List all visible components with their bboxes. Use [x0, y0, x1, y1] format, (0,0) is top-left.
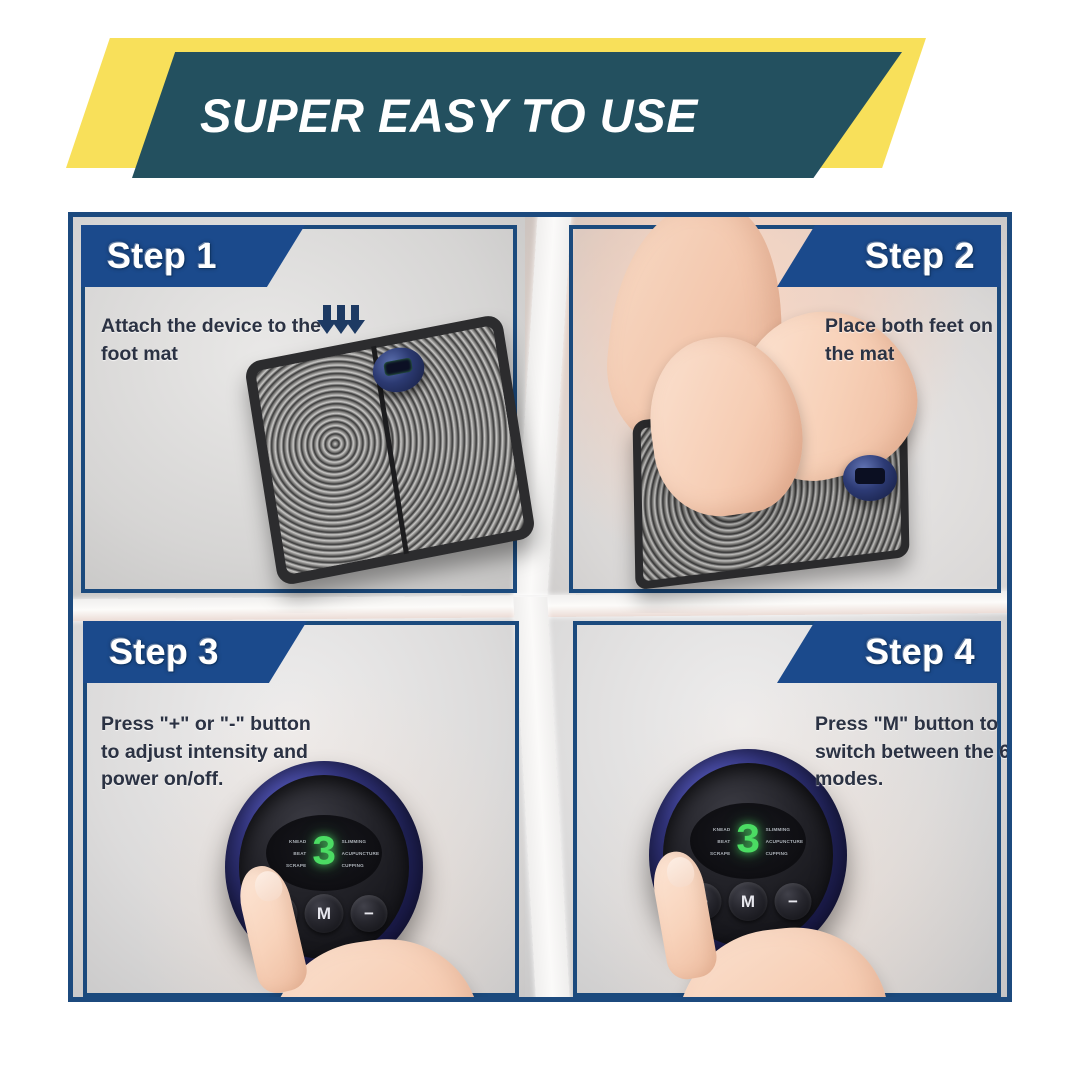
step-1-tab-label: Step 1 — [107, 235, 217, 277]
step-1-tab: Step 1 — [81, 225, 305, 287]
mode-label-acupuncture: ACUPUNCTURE — [766, 839, 804, 844]
mode-label-beat: BEAT — [293, 851, 306, 856]
mode-label-slimming: SLIMMING — [766, 827, 791, 832]
mode-label-slimming: SLIMMING — [342, 839, 367, 844]
mode-label-knead: KNEAD — [289, 839, 306, 844]
promo-graphic-root: SUPER EASY TO USE — [0, 0, 1080, 1080]
steps-grid: KNEAD BEAT SCRAPE 3 SLIMMING ACUPUNCTURE… — [68, 212, 1012, 1002]
mode-label-knead: KNEAD — [713, 827, 730, 832]
step-2-tab: Step 2 — [777, 225, 1001, 287]
step-2-tab-label: Step 2 — [865, 235, 975, 277]
step-2-caption: Place both feet on the mat — [825, 313, 1012, 368]
page-title: SUPER EASY TO USE — [200, 88, 698, 143]
step-3-tab-label: Step 3 — [109, 631, 219, 673]
controller-display: KNEAD BEAT SCRAPE 3 SLIMMING ACUPUNCTURE… — [690, 803, 806, 879]
intensity-value: 3 — [311, 832, 336, 874]
banner-body: SUPER EASY TO USE — [132, 52, 902, 178]
mode-label-cupping: CUPPING — [766, 851, 788, 856]
mode-label-scrape: SCRAPE — [286, 863, 306, 868]
step-3-caption: Press "+" or "-" button to adjust intens… — [101, 711, 321, 794]
mode-button[interactable]: M — [305, 894, 344, 933]
mode-label-acupuncture: ACUPUNCTURE — [342, 851, 380, 856]
mode-label-beat: BEAT — [717, 839, 730, 844]
step-4-tab: Step 4 — [777, 621, 1001, 683]
step-3-tab: Step 3 — [83, 621, 307, 683]
intensity-value: 3 — [735, 820, 760, 862]
mode-label-scrape: SCRAPE — [710, 851, 730, 856]
mode-label-cupping: CUPPING — [342, 863, 364, 868]
step-4-caption: Press "M" button to switch between the 6… — [815, 711, 1012, 794]
ems-controller-on-mat — [843, 455, 897, 501]
step-1-caption: Attach the device to the foot mat — [101, 313, 321, 368]
mode-button[interactable]: M — [729, 882, 768, 921]
step-4-tab-label: Step 4 — [865, 631, 975, 673]
minus-button[interactable]: − — [351, 895, 388, 932]
minus-button[interactable]: − — [775, 883, 812, 920]
header-banner: SUPER EASY TO USE — [0, 38, 1080, 178]
